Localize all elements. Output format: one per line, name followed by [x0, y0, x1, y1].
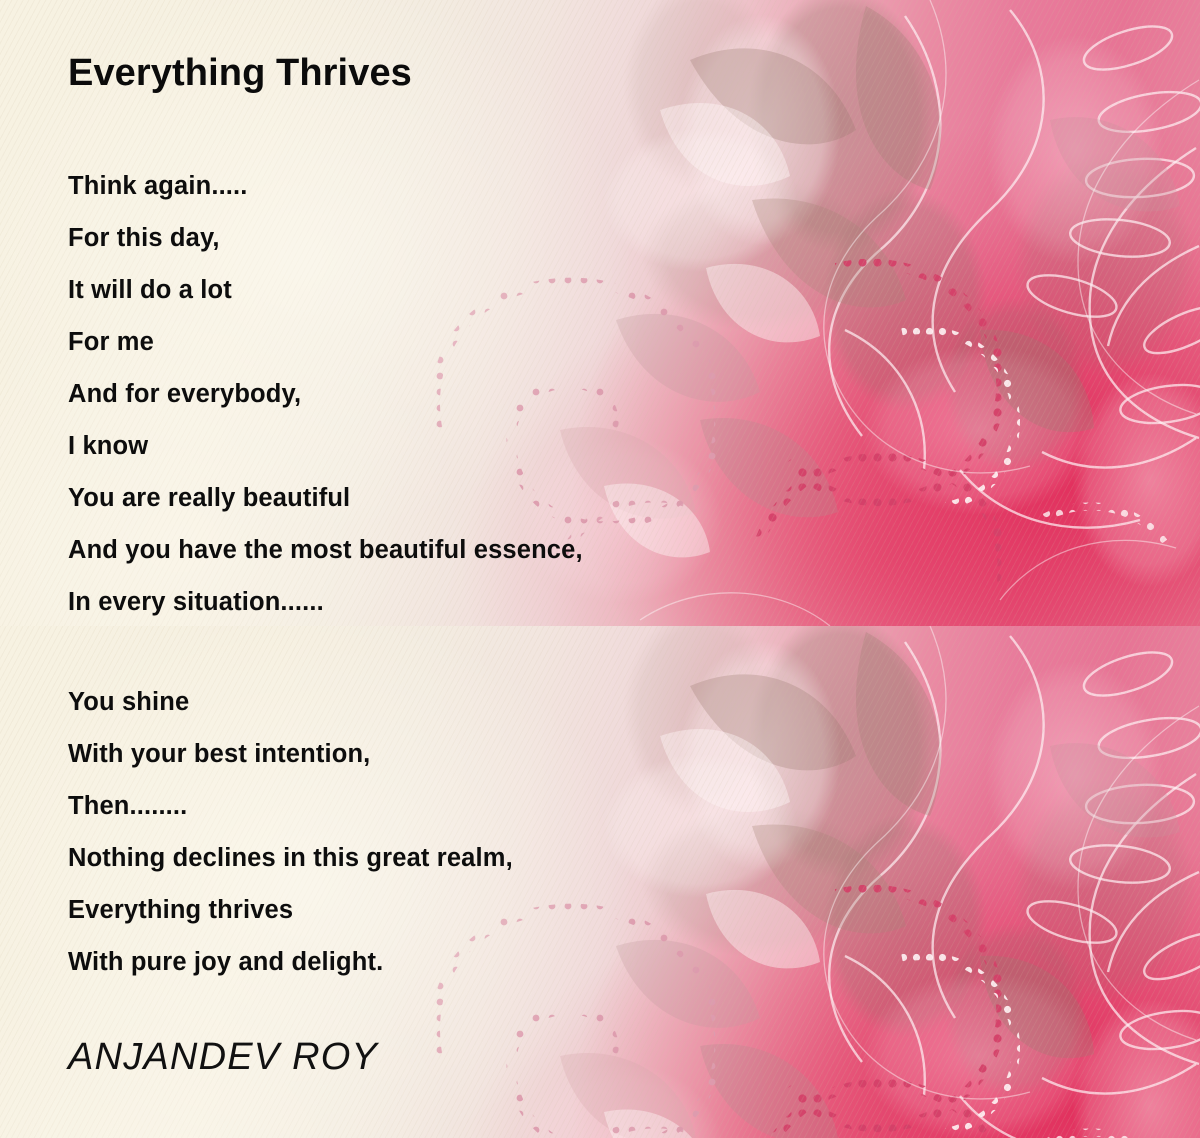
poem-line: With pure joy and delight. [68, 936, 513, 988]
poem-line: It will do a lot [68, 264, 583, 316]
author-signature: ANJANDEV ROY [68, 1036, 378, 1079]
poem-line: I know [68, 420, 583, 472]
poem-line: For this day, [68, 212, 583, 264]
poem-line: You shine [68, 676, 513, 728]
poem-stanza-1: Think again..... For this day, It will d… [68, 160, 583, 628]
poem-line: And for everybody, [68, 368, 583, 420]
poem-line: With your best intention, [68, 728, 513, 780]
poem-stanza-2: You shine With your best intention, Then… [68, 676, 513, 988]
poem-line: Think again..... [68, 160, 583, 212]
poem-image-card: Everything Thrives Think again..... For … [0, 0, 1200, 1138]
poem-line: Nothing declines in this great realm, [68, 832, 513, 884]
poem-line: For me [68, 316, 583, 368]
poem-line: Then........ [68, 780, 513, 832]
poem-line: Everything thrives [68, 884, 513, 936]
poem-line: You are really beautiful [68, 472, 583, 524]
poem-line: In every situation...... [68, 576, 583, 628]
poem-line: And you have the most beautiful essence, [68, 524, 583, 576]
poem-content: Everything Thrives Think again..... For … [0, 0, 1200, 1138]
page-title: Everything Thrives [68, 52, 412, 95]
